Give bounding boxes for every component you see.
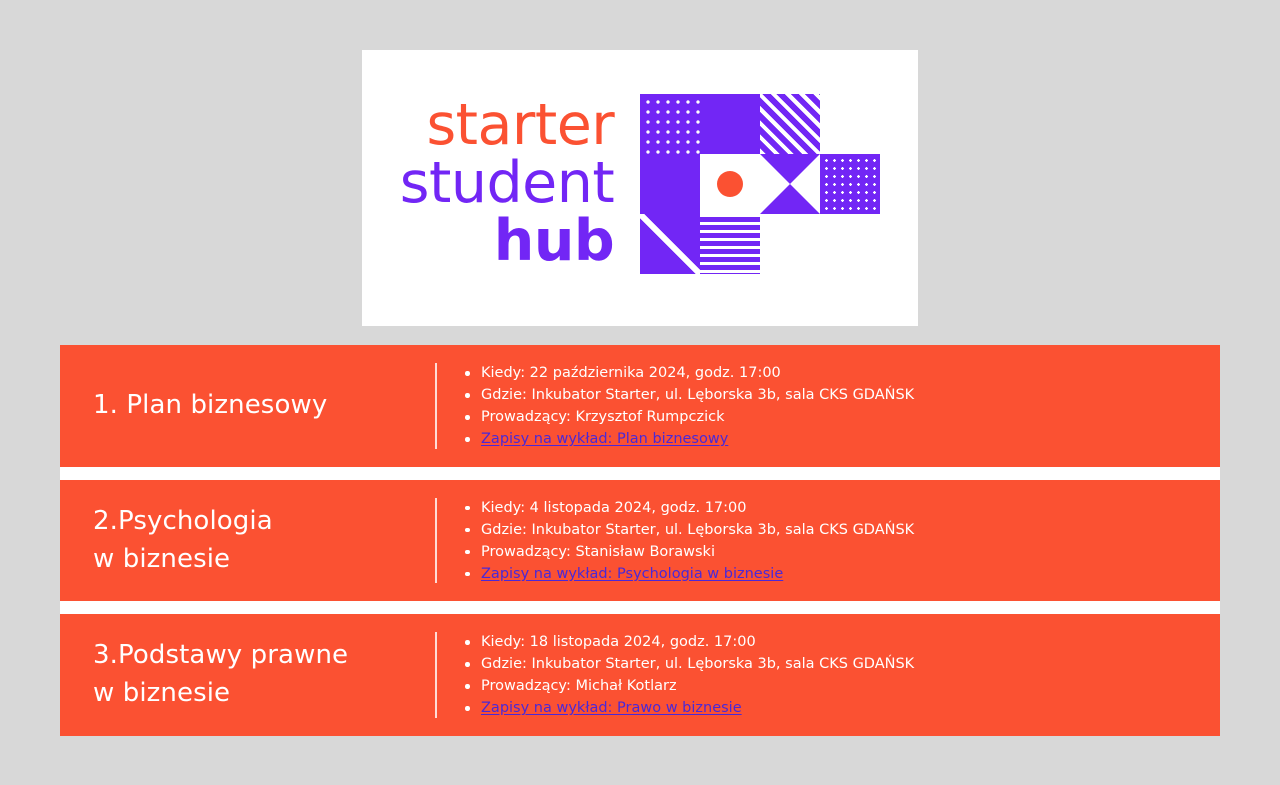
detail-text: Prowadzący: Stanisław Borawski — [481, 544, 715, 560]
vertical-divider — [435, 498, 437, 583]
detail-text: Gdzie: Inkubator Starter, ul. Lęborska 3… — [481, 387, 914, 403]
detail-text: Gdzie: Inkubator Starter, ul. Lęborska 3… — [481, 656, 914, 672]
detail-text: Kiedy: 22 października 2024, godz. 17:00 — [481, 365, 781, 381]
vertical-divider — [435, 363, 437, 449]
tile-dot-grid-icon — [640, 94, 700, 154]
card-separator — [60, 467, 1220, 480]
tile-orange-circle-icon — [700, 154, 760, 214]
event-card[interactable]: 1. Plan biznesowy Kiedy: 22 października… — [60, 345, 1220, 467]
list-item-signup-link[interactable]: Zapisy na wykład: Plan biznesowy — [461, 428, 914, 450]
tile-diagonal-stripes-icon — [760, 94, 820, 154]
event-card-title-column: 1. Plan biznesowy — [60, 345, 435, 467]
logo-word-starter: starter — [426, 98, 614, 154]
list-item-where: Gdzie: Inkubator Starter, ul. Lęborska 3… — [461, 519, 914, 541]
geometric-tile-mark-icon — [640, 94, 880, 274]
event-card-title: 2.Psychologia w biznesie — [93, 503, 273, 578]
detail-text: Prowadzący: Michał Kotlarz — [481, 678, 677, 694]
event-card-title-column: 3.Podstawy prawne w biznesie — [60, 614, 435, 736]
list-item-presenter: Prowadzący: Stanisław Borawski — [461, 541, 914, 563]
list-item-when: Kiedy: 4 listopada 2024, godz. 17:00 — [461, 497, 914, 519]
tile-solid-icon — [640, 154, 700, 214]
vertical-divider — [435, 632, 437, 718]
event-card[interactable]: 3.Podstawy prawne w biznesie Kiedy: 18 l… — [60, 614, 1220, 736]
signup-link[interactable]: Zapisy na wykład: Psychologia w biznesie — [481, 566, 783, 582]
event-card-list: 1. Plan biznesowy Kiedy: 22 października… — [60, 345, 1220, 736]
tile-horizontal-stripes-icon — [700, 214, 760, 274]
list-item-where: Gdzie: Inkubator Starter, ul. Lęborska 3… — [461, 384, 914, 406]
event-detail-list: Kiedy: 18 listopada 2024, godz. 17:00 Gd… — [461, 631, 914, 719]
event-card-title: 1. Plan biznesowy — [93, 387, 327, 425]
logo-panel: starter student hub — [362, 50, 918, 326]
list-item-presenter: Prowadzący: Michał Kotlarz — [461, 675, 914, 697]
tile-dot-grid-small-icon — [820, 154, 880, 214]
event-detail-list: Kiedy: 22 października 2024, godz. 17:00… — [461, 362, 914, 450]
tile-diagonal-split-icon — [640, 214, 700, 274]
event-card[interactable]: 2.Psychologia w biznesie Kiedy: 4 listop… — [60, 480, 1220, 601]
tile-bowtie-icon — [760, 154, 820, 214]
list-item-where: Gdzie: Inkubator Starter, ul. Lęborska 3… — [461, 653, 914, 675]
event-card-title-column: 2.Psychologia w biznesie — [60, 480, 435, 601]
list-item-presenter: Prowadzący: Krzysztof Rumpczick — [461, 406, 914, 428]
card-separator — [60, 601, 1220, 614]
event-card-details-column: Kiedy: 18 listopada 2024, godz. 17:00 Gd… — [435, 614, 1220, 736]
detail-text: Prowadzący: Krzysztof Rumpczick — [481, 409, 724, 425]
tile-solid-icon — [700, 94, 760, 154]
list-item-when: Kiedy: 18 listopada 2024, godz. 17:00 — [461, 631, 914, 653]
signup-link[interactable]: Zapisy na wykład: Plan biznesowy — [481, 431, 728, 447]
event-card-details-column: Kiedy: 22 października 2024, godz. 17:00… — [435, 345, 1220, 467]
detail-text: Gdzie: Inkubator Starter, ul. Lęborska 3… — [481, 522, 914, 538]
event-card-title: 3.Podstawy prawne w biznesie — [93, 637, 348, 712]
detail-text: Kiedy: 4 listopada 2024, godz. 17:00 — [481, 500, 747, 516]
detail-text: Kiedy: 18 listopada 2024, godz. 17:00 — [481, 634, 756, 650]
list-item-signup-link[interactable]: Zapisy na wykład: Psychologia w biznesie — [461, 563, 914, 585]
signup-link[interactable]: Zapisy na wykład: Prawo w biznesie — [481, 700, 742, 716]
event-card-details-column: Kiedy: 4 listopada 2024, godz. 17:00 Gdz… — [435, 480, 1220, 601]
logo-word-hub: hub — [494, 214, 614, 270]
list-item-signup-link[interactable]: Zapisy na wykład: Prawo w biznesie — [461, 697, 914, 719]
list-item-when: Kiedy: 22 października 2024, godz. 17:00 — [461, 362, 914, 384]
logo-lockup: starter student hub — [400, 94, 880, 274]
logo-wordmark: starter student hub — [400, 98, 614, 270]
event-detail-list: Kiedy: 4 listopada 2024, godz. 17:00 Gdz… — [461, 497, 914, 585]
logo-word-student: student — [400, 156, 614, 212]
